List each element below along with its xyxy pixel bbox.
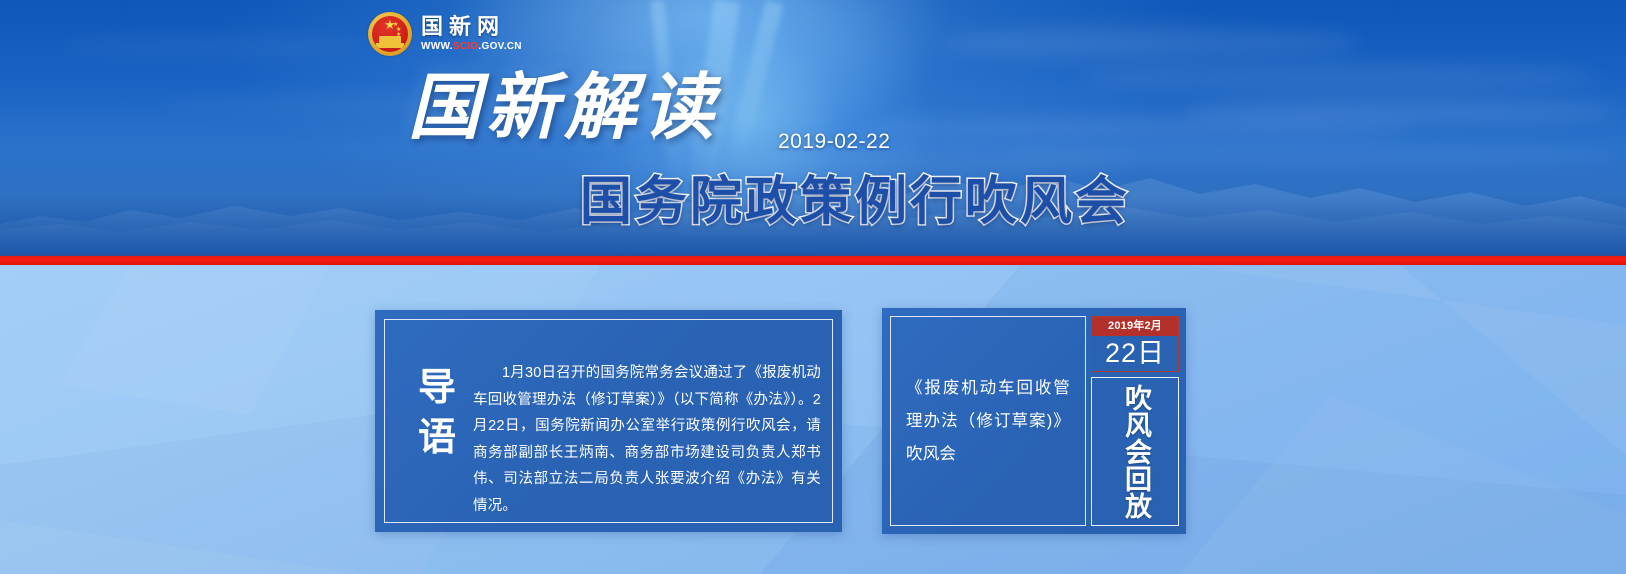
banner-title: 国新解读 [408, 66, 720, 148]
cloud-decoration [860, 118, 1420, 138]
site-logo[interactable]: ★ ★ ★ ★ ★ 国新网 WWW.SCIO.GOV.CN [368, 10, 522, 58]
cloud-decoration [940, 28, 1360, 58]
replay-button[interactable]: 吹风会回放 [1091, 377, 1179, 526]
red-divider [0, 256, 1626, 265]
page-root: ★ ★ ★ ★ ★ 国新网 WWW.SCIO.GOV.CN 国新解读 2019-… [0, 0, 1626, 574]
banner-date: 2019-02-22 [778, 130, 890, 154]
date-year-month: 2019年2月 [1092, 317, 1178, 336]
cloud-decoration [60, 36, 360, 56]
video-title-box[interactable]: 《报废机动车回收管理办法（修订草案)》吹风会 [890, 316, 1086, 526]
replay-label: 吹风会回放 [1119, 384, 1151, 519]
cloud-decoration [1080, 64, 1600, 90]
date-badge: 2019年2月 22日 [1091, 316, 1179, 372]
site-name: 国新网 [421, 15, 522, 39]
intro-label: 导语 [413, 362, 461, 462]
video-title: 《报废机动车回收管理办法（修订草案)》吹风会 [906, 372, 1070, 471]
header-banner: ★ ★ ★ ★ ★ 国新网 WWW.SCIO.GOV.CN 国新解读 2019-… [0, 0, 1626, 256]
intro-panel: 导语 1月30日召开的国务院常务会议通过了《报废机动车回收管理办法（修订草案）》… [375, 310, 842, 532]
date-column: 2019年2月 22日 吹风会回放 [1091, 316, 1179, 526]
video-card[interactable]: 《报废机动车回收管理办法（修订草案)》吹风会 2019年2月 22日 吹风会回放 [882, 308, 1186, 534]
site-url: WWW.SCIO.GOV.CN [421, 41, 522, 53]
national-emblem-icon: ★ ★ ★ ★ ★ [368, 12, 412, 56]
banner-subtitle: 国务院政策例行吹风会 [580, 172, 1130, 232]
intro-text: 1月30日召开的国务院常务会议通过了《报废机动车回收管理办法（修订草案）》（以下… [473, 360, 821, 519]
date-day: 22日 [1092, 336, 1178, 371]
site-logo-text: 国新网 WWW.SCIO.GOV.CN [421, 15, 522, 53]
